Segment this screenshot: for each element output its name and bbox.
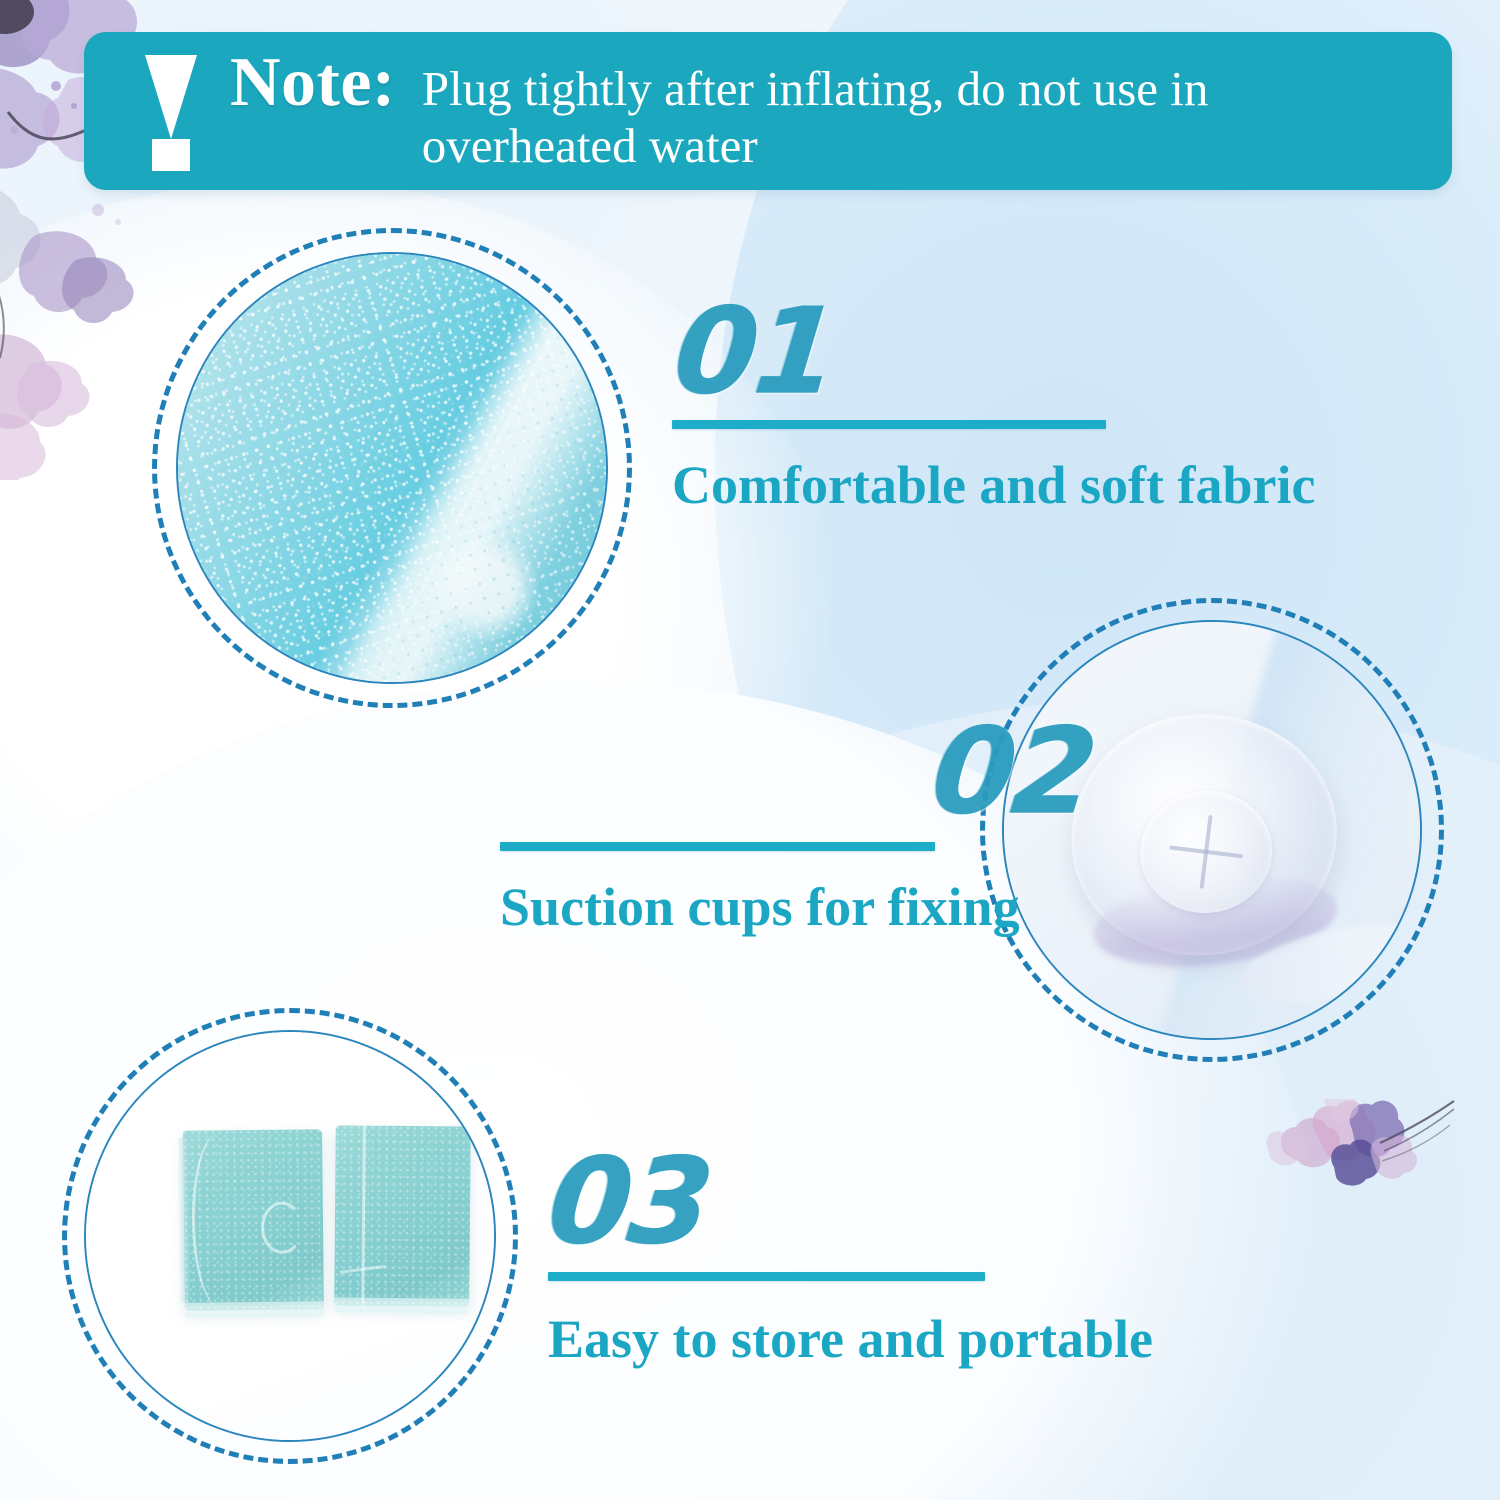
feature-caption-01: Comfortable and soft fabric <box>672 457 1272 514</box>
folded-towel-left <box>183 1129 324 1310</box>
note-body-text: Plug tightly after inflating, do not use… <box>422 60 1422 175</box>
feature-number-01: 01 <box>670 292 1278 410</box>
exclamation-stem <box>145 55 197 139</box>
feature-divider-02 <box>500 842 935 851</box>
photo-frame-1 <box>176 252 608 684</box>
towel-embossed-ring <box>261 1201 304 1254</box>
towel-right-bottom-edge <box>334 1298 469 1314</box>
towel-center-crease <box>361 1125 366 1305</box>
feature-image-terry-fabric <box>152 228 632 708</box>
feature-block-02: 02 Suction cups for fixing <box>500 712 1100 936</box>
feature-block-01: 01 Comfortable and soft fabric <box>672 292 1272 514</box>
terry-fabric-texture <box>178 254 606 682</box>
feature-number-02: 02 <box>494 712 1100 830</box>
feature-number-03: 03 <box>544 1142 1174 1260</box>
watercolor-flowers-bottom-right-icon <box>1262 1099 1462 1264</box>
towel-left-edge <box>176 1138 190 1303</box>
exclamation-dot <box>152 139 190 171</box>
towel-left-bottom-edge <box>185 1302 324 1318</box>
folded-towel-right <box>334 1125 470 1306</box>
photo-frame-3 <box>84 1030 496 1442</box>
note-label: Note: <box>230 48 396 118</box>
infographic-canvas: Note: Plug tightly after inflating, do n… <box>0 0 1500 1500</box>
towel-fold-arc <box>191 1134 246 1307</box>
feature-block-03: 03 Easy to store and portable <box>548 1142 1168 1368</box>
suction-cup-center-valve <box>1133 782 1279 919</box>
towels-background <box>86 1032 494 1440</box>
exclamation-icon <box>112 49 230 173</box>
feature-caption-03: Easy to store and portable <box>548 1311 1168 1368</box>
feature-image-folded-towels <box>62 1008 518 1464</box>
feature-divider-03 <box>548 1272 985 1281</box>
note-banner: Note: Plug tightly after inflating, do n… <box>84 32 1452 190</box>
feature-divider-01 <box>672 420 1106 429</box>
feature-caption-02: Suction cups for fixing <box>500 879 1100 936</box>
note-text-group: Note: Plug tightly after inflating, do n… <box>230 48 1452 175</box>
